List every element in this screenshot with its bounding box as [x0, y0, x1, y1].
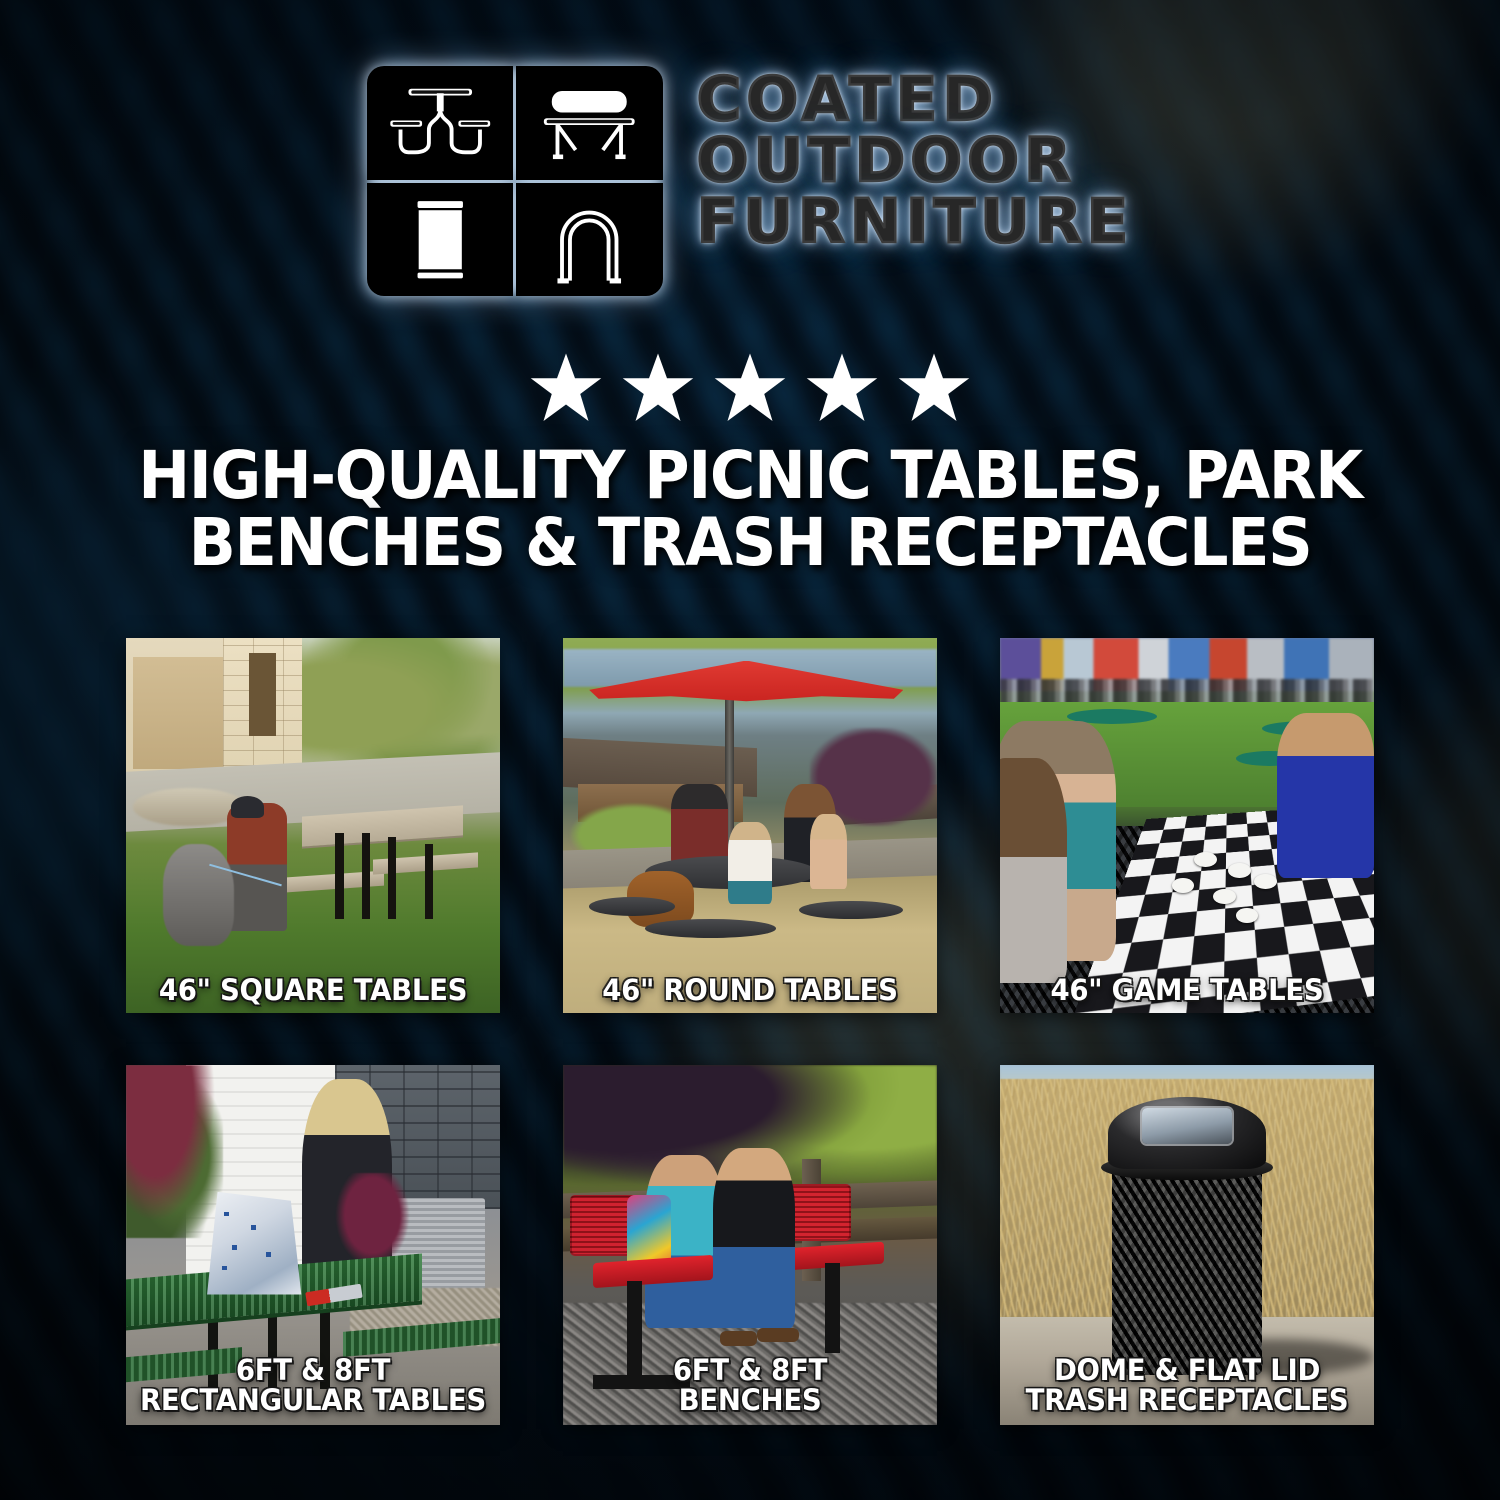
logo-wordmark: COATED OUTDOOR FURNITURE — [697, 66, 1134, 251]
brand-logo: COATED OUTDOOR FURNITURE — [0, 66, 1500, 296]
product-caption-game-tables: 46" GAME TABLES — [1009, 975, 1364, 1005]
promo-banner: COATED OUTDOOR FURNITURE HIGH-QUALITY PI… — [0, 0, 1500, 1500]
trash-receptacle-icon — [367, 183, 514, 297]
star-icon — [620, 352, 696, 424]
product-caption-benches: 6FT & 8FT BENCHES — [572, 1355, 927, 1415]
logo-line-2: OUTDOOR — [697, 131, 1134, 191]
headline-line-2: BENCHES & TRASH RECEPTACLES — [101, 509, 1398, 576]
caption-line: 46" GAME TABLES — [1009, 975, 1364, 1005]
caption-line: 6FT & 8FT — [572, 1355, 927, 1385]
star-icon — [896, 352, 972, 424]
star-rating — [0, 352, 1500, 424]
caption-line: RECTANGULAR TABLES — [135, 1385, 490, 1415]
page-title: HIGH-QUALITY PICNIC TABLES, PARK BENCHES… — [101, 442, 1398, 577]
caption-line: BENCHES — [572, 1385, 927, 1415]
product-photo-round-tables — [563, 638, 937, 1013]
picnic-table-icon — [367, 66, 514, 180]
bike-rack-arch-icon — [516, 183, 663, 297]
product-caption-round-tables: 46" ROUND TABLES — [572, 975, 927, 1005]
product-caption-square-tables: 46" SQUARE TABLES — [135, 975, 490, 1005]
product-caption-rectangular-tables: 6FT & 8FT RECTANGULAR TABLES — [135, 1355, 490, 1415]
caption-line: 46" ROUND TABLES — [572, 975, 927, 1005]
caption-line: 46" SQUARE TABLES — [135, 975, 490, 1005]
star-icon — [712, 352, 788, 424]
headline-line-1: HIGH-QUALITY PICNIC TABLES, PARK — [101, 442, 1398, 509]
bench-icon — [516, 66, 663, 180]
caption-line: DOME & FLAT LID — [1009, 1355, 1364, 1385]
product-photo-game-tables — [1000, 638, 1374, 1013]
logo-icon-grid — [367, 66, 663, 296]
caption-line: TRASH RECEPTACLES — [1009, 1385, 1364, 1415]
product-tile-trash-receptacles[interactable]: DOME & FLAT LID TRASH RECEPTACLES — [1000, 1065, 1374, 1425]
product-tile-game-tables[interactable]: 46" GAME TABLES — [1000, 638, 1374, 1013]
logo-line-3: FURNITURE — [697, 192, 1134, 252]
product-tile-round-tables[interactable]: 46" ROUND TABLES — [563, 638, 937, 1013]
star-icon — [528, 352, 604, 424]
product-caption-trash-receptacles: DOME & FLAT LID TRASH RECEPTACLES — [1009, 1355, 1364, 1415]
product-tile-rectangular-tables[interactable]: 6FT & 8FT RECTANGULAR TABLES — [126, 1065, 500, 1425]
product-tile-benches[interactable]: 6FT & 8FT BENCHES — [563, 1065, 937, 1425]
logo-line-1: COATED — [697, 70, 1134, 130]
product-photo-square-tables — [126, 638, 500, 1013]
caption-line: 6FT & 8FT — [135, 1355, 490, 1385]
star-icon — [804, 352, 880, 424]
product-tile-square-tables[interactable]: 46" SQUARE TABLES — [126, 638, 500, 1013]
product-tile-grid: 46" SQUARE TABLES 46" ROUND TABLES — [126, 638, 1374, 1425]
